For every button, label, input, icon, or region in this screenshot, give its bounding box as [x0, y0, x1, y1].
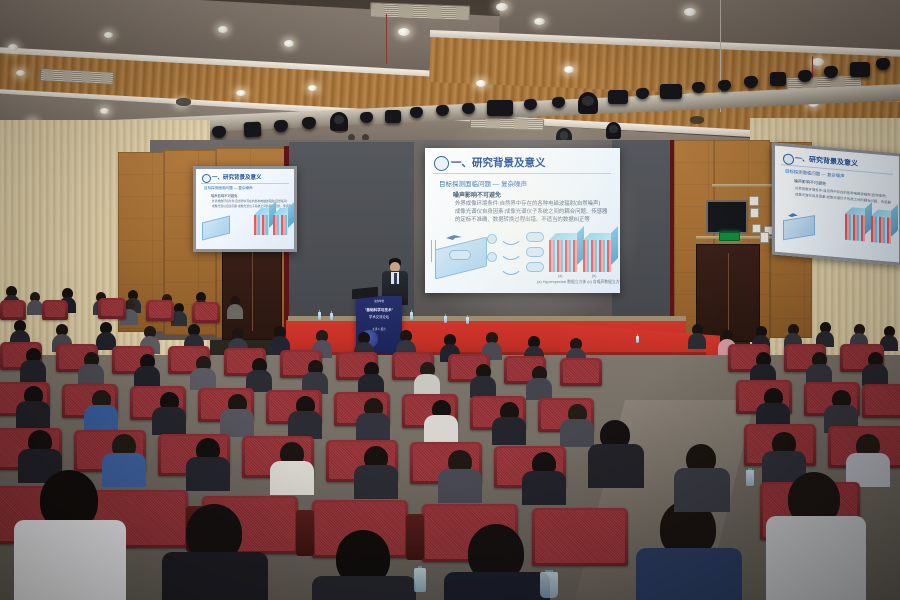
figure-label-2 — [526, 247, 544, 257]
right-projection-screen: 一、研究背景及意义 目标探测面临问题 — 复杂噪声 噪声影响不可避免 外界成像环… — [772, 142, 900, 265]
spectrum-curve — [499, 247, 523, 260]
aircraft-icon — [787, 205, 799, 212]
water-bottle — [330, 313, 333, 320]
theater-seat — [98, 298, 126, 319]
moving-head-light — [606, 122, 621, 139]
water-bottle — [410, 312, 413, 320]
seat-armrest — [406, 514, 424, 560]
presenter-tie — [394, 273, 397, 284]
spectrum-curve — [499, 262, 523, 275]
slide-bullet-2: 噪声影响不可避免 — [211, 193, 237, 198]
wall-control-panel — [749, 196, 759, 206]
ceiling-drop-rod — [386, 14, 387, 64]
aircraft-icon — [445, 228, 463, 236]
auditorium-photo: 一、研究背景及意义 目标探测面临问题 — 复杂噪声 噪声影响不可避免 外界成像环… — [0, 0, 900, 600]
center-projection-screen: 一、研究背景及意义 目标探测面临问题 — 复杂噪声 噪声影响不可避免 外界成像环… — [425, 148, 620, 293]
theater-seat — [0, 300, 26, 320]
downlight — [100, 108, 109, 114]
wall-control-panel — [750, 208, 759, 218]
seat-armrest — [296, 510, 314, 556]
presentation-slide-right: 一、研究背景及意义 目标探测面临问题 — 复杂噪声 噪声影响不可避免 外界成像环… — [775, 146, 899, 263]
theater-seat — [532, 508, 628, 566]
ceiling-speaker — [690, 116, 704, 124]
hyperspectral-cube-b — [583, 240, 611, 272]
wall-monitor-right — [706, 200, 748, 234]
water-bottle — [746, 470, 754, 486]
stage-lip — [288, 316, 686, 321]
downlight — [564, 66, 574, 73]
slide-body-line-1: 外界成像环境条件:自然界中存在的各种电磁波辐射(自然噪声) — [212, 199, 287, 203]
downlight — [284, 40, 294, 47]
figure-caption-b: (b) — [592, 274, 596, 278]
slide-body-line-1: 外界成像环境条件:自然界中存在的各种电磁波辐射(自然噪声) — [455, 199, 600, 207]
downlight — [812, 58, 824, 66]
stage-light — [385, 110, 401, 123]
downlight — [104, 32, 113, 38]
podium-banner-line-2: 学术交流论坛 — [356, 315, 402, 319]
university-logo-icon — [434, 156, 449, 171]
back-wall-center — [612, 140, 674, 338]
stage-light — [850, 62, 870, 77]
downlight — [476, 80, 486, 87]
slide-bullet-2: 噪声影响不可避免 — [453, 190, 501, 199]
water-bottle — [318, 312, 321, 320]
figure-element — [449, 250, 471, 260]
theater-seat — [42, 300, 68, 320]
slide-title: 一、研究背景及意义 — [212, 173, 262, 181]
exit-sign-right — [719, 232, 740, 241]
water-bottle — [414, 568, 426, 592]
downlight — [236, 90, 246, 96]
presentation-slide: 一、研究背景及意义 目标探测面临问题 — 复杂噪声 噪声影响不可避免 外界成像环… — [425, 148, 620, 293]
figure-label-1 — [526, 232, 544, 242]
podium-org-label: 主办单位 — [360, 300, 398, 303]
podium-banner-line-1: "基础科学与技术" — [356, 308, 402, 312]
hyperspectral-cube-a — [549, 240, 577, 272]
theater-seat — [192, 302, 220, 323]
stage-light — [608, 90, 628, 104]
optical-bench-figure — [202, 216, 230, 241]
stage-light-fresnel — [487, 100, 513, 116]
downlight — [398, 28, 410, 36]
stage-light — [660, 84, 682, 99]
wall-control-panel — [760, 232, 769, 243]
downlight — [8, 44, 18, 51]
hyperspectral-cube-b — [273, 215, 288, 235]
water-bottle — [636, 336, 639, 343]
theater-seat — [560, 358, 602, 386]
moving-head-light — [578, 92, 598, 114]
hyperspectral-cube-a — [845, 214, 865, 242]
optical-bench-figure — [783, 215, 815, 240]
slide-bullet-1: 目标探测面临问题 — 复杂噪声 — [204, 186, 253, 191]
auditorium-door-right[interactable] — [696, 244, 760, 342]
figure-node — [487, 234, 497, 244]
stage-light — [770, 72, 786, 86]
left-projection-screen: 一、研究背景及意义 目标探测面临问题 — 复杂噪声 噪声影响不可避免 外界成像环… — [193, 166, 297, 252]
ceiling-speaker — [176, 98, 191, 106]
slide-body-line-2: 成像光谱仪自身因素:成像光谱仪子系统之间的耦合问题、传感器 — [455, 207, 607, 215]
downlight — [308, 85, 317, 91]
downlight — [16, 70, 25, 76]
podium-banner-line-3: 主讲人 报告 — [356, 328, 402, 331]
hyperspectral-cube-b — [871, 216, 891, 244]
downlight — [684, 8, 696, 16]
slide-body-line-3: 的定标不准确、数据转换过程出错、不适当的数据纠正等 — [455, 215, 590, 223]
figure-caption: (a) Hyperspectral 数据立方体 (b) 含噪声数据立方体 — [537, 280, 620, 285]
figure-node — [487, 252, 497, 262]
slide-bullet-1: 目标探测面临问题 — 复杂噪声 — [439, 178, 527, 188]
stage-light — [244, 122, 262, 138]
downlight — [534, 18, 545, 25]
water-bottle — [466, 317, 469, 324]
water-bottle — [444, 316, 447, 323]
auditorium-door-left[interactable] — [222, 242, 282, 340]
hyperspectral-cube-a — [254, 215, 269, 235]
presentation-slide-left: 一、研究背景及意义 目标探测面临问题 — 复杂噪声 噪声影响不可避免 外界成像环… — [196, 169, 294, 249]
figure-caption-a: (a) — [558, 274, 562, 278]
theater-seat — [146, 300, 174, 321]
slide-title: 一、研究背景及意义 — [451, 155, 546, 170]
downlight — [218, 26, 228, 33]
plastic-cup — [540, 572, 558, 598]
moving-head-light — [330, 112, 348, 131]
ceiling-drop-rod — [812, 56, 813, 78]
figure-label-3 — [526, 262, 544, 272]
spectrum-curve — [499, 232, 523, 245]
downlight — [496, 3, 508, 11]
university-logo-icon — [202, 174, 211, 183]
theater-seat — [862, 384, 900, 418]
